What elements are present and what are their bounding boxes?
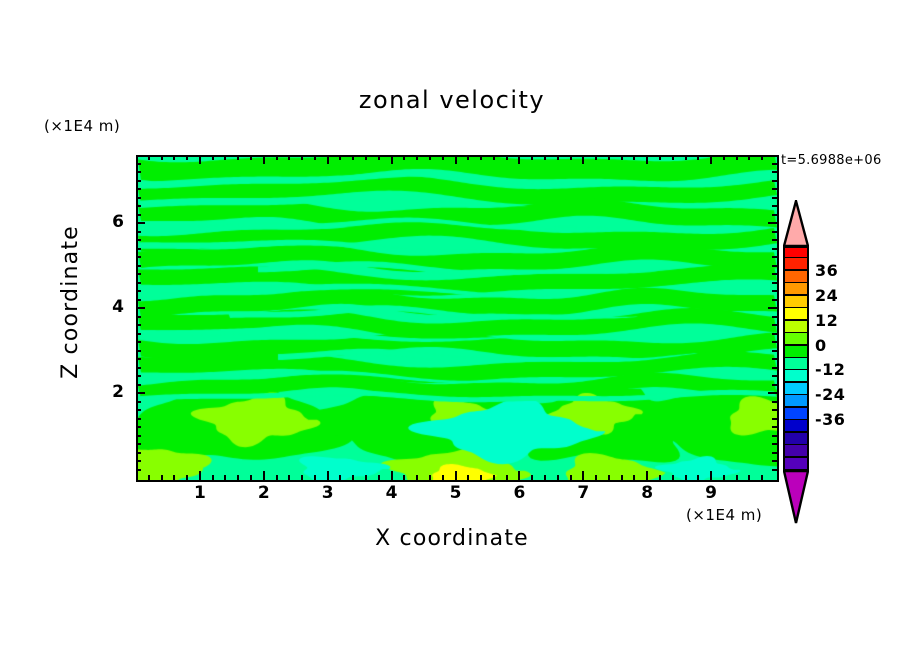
tick-mark bbox=[659, 155, 661, 160]
tick-mark bbox=[723, 155, 725, 160]
tick-mark bbox=[633, 475, 635, 480]
tick-mark bbox=[557, 475, 559, 480]
colorbar-band bbox=[783, 408, 809, 421]
tick-mark bbox=[467, 475, 469, 480]
colorbar-band bbox=[783, 296, 809, 309]
colorbar-band bbox=[783, 308, 809, 321]
tick-mark bbox=[416, 475, 418, 480]
colorbar-band bbox=[783, 346, 809, 359]
tick-mark bbox=[570, 475, 572, 480]
tick-mark bbox=[136, 443, 141, 445]
colorbar-band bbox=[783, 358, 809, 371]
tick-mark bbox=[136, 426, 141, 428]
tick-mark bbox=[557, 155, 559, 160]
colorbar-tick-label: 36 bbox=[815, 261, 838, 280]
x-axis-title: X coordinate bbox=[0, 526, 904, 551]
tick-mark bbox=[442, 155, 444, 160]
x-tick-label: 1 bbox=[185, 483, 215, 503]
tick-mark bbox=[772, 197, 777, 199]
tick-mark bbox=[772, 171, 777, 173]
colorbar-band bbox=[783, 321, 809, 334]
tick-mark bbox=[761, 475, 763, 480]
tick-mark bbox=[518, 155, 520, 164]
tick-mark bbox=[136, 273, 141, 275]
colorbar-tick-label: -36 bbox=[815, 410, 845, 429]
y-tick-label: 6 bbox=[94, 212, 124, 232]
tick-mark bbox=[595, 475, 597, 480]
contour-plot-area bbox=[136, 155, 779, 482]
tick-mark bbox=[136, 188, 141, 190]
colorbar-band bbox=[783, 283, 809, 296]
tick-mark bbox=[403, 475, 405, 480]
tick-mark bbox=[237, 475, 239, 480]
tick-mark bbox=[136, 333, 141, 335]
tick-mark bbox=[136, 180, 141, 182]
tick-mark bbox=[136, 401, 141, 403]
tick-mark bbox=[646, 471, 648, 480]
tick-mark bbox=[768, 307, 777, 309]
tick-mark bbox=[136, 316, 141, 318]
tick-mark bbox=[506, 155, 508, 160]
tick-mark bbox=[136, 222, 145, 224]
tick-mark bbox=[136, 282, 141, 284]
tick-mark bbox=[467, 155, 469, 160]
tick-mark bbox=[263, 471, 265, 480]
tick-mark bbox=[772, 341, 777, 343]
tick-mark bbox=[136, 392, 145, 394]
tick-mark bbox=[136, 163, 141, 165]
tick-mark bbox=[429, 475, 431, 480]
tick-mark bbox=[772, 401, 777, 403]
tick-mark bbox=[136, 265, 141, 267]
tick-mark bbox=[352, 475, 354, 480]
colorbar-tick-label: 0 bbox=[815, 336, 827, 355]
y-tick-label: 4 bbox=[94, 297, 124, 317]
tick-mark bbox=[772, 324, 777, 326]
tick-mark bbox=[672, 475, 674, 480]
tick-mark bbox=[136, 256, 141, 258]
x-tick-label: 7 bbox=[568, 483, 598, 503]
tick-mark bbox=[608, 155, 610, 160]
tick-mark bbox=[224, 475, 226, 480]
y-tick-label: 2 bbox=[94, 382, 124, 402]
tick-mark bbox=[685, 475, 687, 480]
tick-mark bbox=[212, 155, 214, 160]
tick-mark bbox=[136, 197, 141, 199]
tick-mark bbox=[250, 475, 252, 480]
tick-mark bbox=[582, 471, 584, 480]
tick-mark bbox=[455, 155, 457, 164]
tick-mark bbox=[339, 155, 341, 160]
tick-mark bbox=[544, 475, 546, 480]
tick-mark bbox=[136, 452, 141, 454]
tick-mark bbox=[518, 471, 520, 480]
y-axis-title-text: Z coordinate bbox=[58, 202, 83, 402]
colorbar bbox=[783, 200, 809, 518]
colorbar-band bbox=[783, 246, 809, 259]
tick-mark bbox=[301, 475, 303, 480]
tick-mark bbox=[301, 155, 303, 160]
tick-mark bbox=[493, 475, 495, 480]
tick-mark bbox=[237, 155, 239, 160]
tick-mark bbox=[339, 475, 341, 480]
tick-mark bbox=[697, 475, 699, 480]
tick-mark bbox=[136, 171, 141, 173]
tick-mark bbox=[136, 367, 141, 369]
tick-mark bbox=[772, 248, 777, 250]
tick-mark bbox=[582, 155, 584, 164]
tick-mark bbox=[570, 155, 572, 160]
tick-mark bbox=[544, 155, 546, 160]
tick-mark bbox=[136, 409, 141, 411]
tick-mark bbox=[772, 282, 777, 284]
y-axis-title: Z coordinate bbox=[58, 18, 80, 218]
tick-mark bbox=[136, 460, 141, 462]
x-tick-label: 6 bbox=[504, 483, 534, 503]
tick-mark bbox=[772, 443, 777, 445]
colorbar-band bbox=[783, 271, 809, 284]
tick-mark bbox=[772, 460, 777, 462]
tick-mark bbox=[136, 290, 141, 292]
tick-mark bbox=[772, 214, 777, 216]
tick-mark bbox=[480, 475, 482, 480]
tick-mark bbox=[136, 248, 141, 250]
tick-mark bbox=[772, 375, 777, 377]
tick-mark bbox=[646, 155, 648, 164]
tick-mark bbox=[136, 350, 141, 352]
y-axis-units-label: (×1E4 m) bbox=[44, 117, 120, 135]
tick-mark bbox=[136, 435, 141, 437]
tick-mark bbox=[531, 155, 533, 160]
tick-mark bbox=[710, 471, 712, 480]
tick-mark bbox=[506, 475, 508, 480]
tick-mark bbox=[772, 384, 777, 386]
tick-mark bbox=[136, 214, 141, 216]
tick-mark bbox=[276, 155, 278, 160]
tick-mark bbox=[772, 163, 777, 165]
x-axis-units-label: (×1E4 m) bbox=[686, 506, 762, 524]
tick-mark bbox=[442, 475, 444, 480]
tick-mark bbox=[772, 180, 777, 182]
tick-mark bbox=[772, 265, 777, 267]
tick-mark bbox=[772, 205, 777, 207]
tick-mark bbox=[136, 324, 141, 326]
tick-mark bbox=[403, 155, 405, 160]
colorbar-band bbox=[783, 458, 809, 471]
tick-mark bbox=[276, 475, 278, 480]
tick-mark bbox=[772, 256, 777, 258]
colorbar-band bbox=[783, 383, 809, 396]
tick-mark bbox=[595, 155, 597, 160]
tick-mark bbox=[314, 475, 316, 480]
tick-mark bbox=[772, 350, 777, 352]
colorbar-band bbox=[783, 258, 809, 271]
tick-mark bbox=[621, 475, 623, 480]
tick-mark bbox=[365, 155, 367, 160]
colorbar-tick-label: -12 bbox=[815, 360, 845, 379]
tick-mark bbox=[199, 471, 201, 480]
timestamp-annotation: t=5.6988e+06 bbox=[781, 153, 882, 168]
tick-mark bbox=[772, 290, 777, 292]
tick-mark bbox=[455, 471, 457, 480]
tick-mark bbox=[365, 475, 367, 480]
tick-mark bbox=[493, 155, 495, 160]
tick-mark bbox=[768, 222, 777, 224]
tick-mark bbox=[199, 155, 201, 164]
colorbar-band bbox=[783, 420, 809, 433]
tick-mark bbox=[212, 475, 214, 480]
tick-mark bbox=[136, 299, 141, 301]
page-title: zonal velocity bbox=[0, 86, 904, 114]
tick-mark bbox=[224, 155, 226, 160]
colorbar-band bbox=[783, 370, 809, 383]
tick-mark bbox=[621, 155, 623, 160]
tick-mark bbox=[772, 358, 777, 360]
tick-mark bbox=[136, 341, 141, 343]
colorbar-band bbox=[783, 333, 809, 346]
tick-mark bbox=[391, 155, 393, 164]
colorbar-band bbox=[783, 445, 809, 458]
tick-mark bbox=[772, 188, 777, 190]
tick-mark bbox=[186, 155, 188, 160]
tick-mark bbox=[136, 239, 141, 241]
tick-mark bbox=[723, 475, 725, 480]
tick-mark bbox=[761, 155, 763, 160]
tick-mark bbox=[772, 273, 777, 275]
tick-mark bbox=[685, 155, 687, 160]
tick-mark bbox=[288, 475, 290, 480]
tick-mark bbox=[772, 367, 777, 369]
tick-mark bbox=[772, 469, 777, 471]
x-tick-label: 2 bbox=[249, 483, 279, 503]
tick-mark bbox=[186, 475, 188, 480]
tick-mark bbox=[136, 418, 141, 420]
tick-mark bbox=[136, 375, 141, 377]
tick-mark bbox=[429, 155, 431, 160]
contour-field-canvas bbox=[138, 157, 777, 480]
tick-mark bbox=[161, 475, 163, 480]
tick-mark bbox=[748, 155, 750, 160]
x-tick-label: 3 bbox=[313, 483, 343, 503]
colorbar-band bbox=[783, 395, 809, 408]
tick-mark bbox=[288, 155, 290, 160]
tick-mark bbox=[608, 475, 610, 480]
tick-mark bbox=[697, 155, 699, 160]
tick-mark bbox=[327, 155, 329, 164]
tick-mark bbox=[736, 155, 738, 160]
colorbar-tick-label: -24 bbox=[815, 385, 845, 404]
tick-mark bbox=[710, 155, 712, 164]
colorbar-tick-label: 24 bbox=[815, 286, 838, 305]
tick-mark bbox=[748, 475, 750, 480]
tick-mark bbox=[173, 475, 175, 480]
tick-mark bbox=[161, 155, 163, 160]
colorbar-over-arrow bbox=[783, 200, 809, 246]
tick-mark bbox=[772, 299, 777, 301]
tick-mark bbox=[633, 155, 635, 160]
tick-mark bbox=[772, 426, 777, 428]
tick-mark bbox=[391, 471, 393, 480]
tick-mark bbox=[173, 155, 175, 160]
tick-mark bbox=[772, 452, 777, 454]
tick-mark bbox=[314, 155, 316, 160]
tick-mark bbox=[416, 155, 418, 160]
tick-mark bbox=[136, 469, 141, 471]
tick-mark bbox=[736, 475, 738, 480]
colorbar-under-arrow bbox=[783, 470, 809, 524]
tick-mark bbox=[772, 231, 777, 233]
tick-mark bbox=[768, 392, 777, 394]
tick-mark bbox=[327, 471, 329, 480]
tick-mark bbox=[772, 239, 777, 241]
tick-mark bbox=[136, 231, 141, 233]
x-tick-label: 9 bbox=[696, 483, 726, 503]
tick-mark bbox=[772, 435, 777, 437]
colorbar-band bbox=[783, 433, 809, 446]
tick-mark bbox=[352, 155, 354, 160]
tick-mark bbox=[250, 155, 252, 160]
tick-mark bbox=[148, 155, 150, 160]
tick-mark bbox=[136, 358, 141, 360]
tick-mark bbox=[772, 333, 777, 335]
tick-mark bbox=[480, 155, 482, 160]
tick-mark bbox=[772, 409, 777, 411]
tick-mark bbox=[136, 205, 141, 207]
tick-mark bbox=[531, 475, 533, 480]
x-tick-label: 5 bbox=[441, 483, 471, 503]
x-tick-label: 8 bbox=[632, 483, 662, 503]
colorbar-tick-label: 12 bbox=[815, 311, 838, 330]
tick-mark bbox=[263, 155, 265, 164]
tick-mark bbox=[659, 475, 661, 480]
tick-mark bbox=[672, 155, 674, 160]
figure-root: zonal velocity (×1E4 m) (×1E4 m) X coord… bbox=[0, 0, 904, 654]
tick-mark bbox=[772, 316, 777, 318]
tick-mark bbox=[136, 307, 145, 309]
tick-mark bbox=[378, 475, 380, 480]
tick-mark bbox=[378, 155, 380, 160]
tick-mark bbox=[136, 384, 141, 386]
tick-mark bbox=[772, 418, 777, 420]
tick-mark bbox=[148, 475, 150, 480]
x-tick-label: 4 bbox=[377, 483, 407, 503]
